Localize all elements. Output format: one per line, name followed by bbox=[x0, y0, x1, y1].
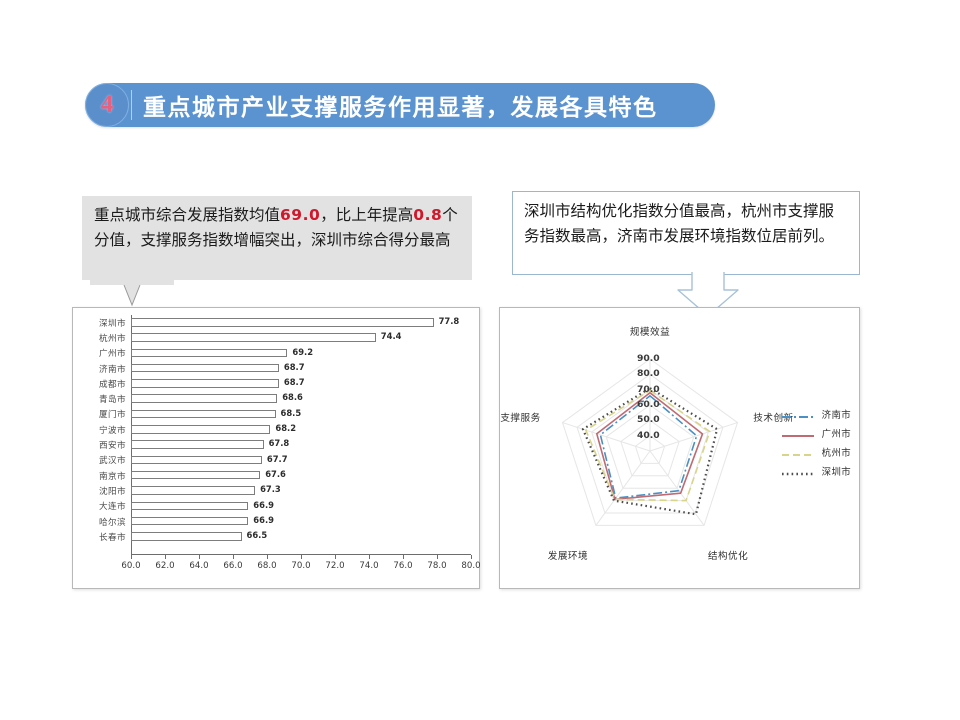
bar-category-label: 沈阳市 bbox=[73, 485, 131, 497]
radar-axis-label: 结构优化 bbox=[708, 548, 748, 562]
callout-left-part2: ，比上年提高 bbox=[320, 206, 413, 224]
radar-polygon bbox=[600, 396, 696, 498]
bar bbox=[131, 364, 279, 373]
x-axis-tick bbox=[437, 555, 438, 559]
bar bbox=[131, 410, 276, 419]
bar-chart-panel: 深圳市77.8杭州市74.4广州市69.2济南市68.7成都市68.7青岛市68… bbox=[72, 307, 480, 589]
x-axis-tick-label: 66.0 bbox=[223, 561, 242, 571]
bar bbox=[131, 318, 434, 327]
x-axis-tick bbox=[471, 555, 472, 559]
bar-track: 66.9 bbox=[131, 499, 479, 514]
x-axis-tick-label: 70.0 bbox=[291, 561, 310, 571]
section-number-badge: 4 bbox=[85, 83, 129, 127]
x-axis-tick-label: 72.0 bbox=[325, 561, 344, 571]
bar-value-label: 68.6 bbox=[282, 392, 303, 402]
page-title: 重点城市产业支撑服务作用显著，发展各具特色 bbox=[143, 88, 658, 122]
bar-chart-row: 长春市66.5 bbox=[73, 529, 479, 544]
bar-track: 67.3 bbox=[131, 483, 479, 498]
bar-category-label: 深圳市 bbox=[73, 317, 131, 329]
bar bbox=[131, 471, 260, 480]
bar bbox=[131, 440, 264, 449]
bar-value-label: 66.5 bbox=[247, 530, 268, 540]
bar-chart-row: 青岛市68.6 bbox=[73, 391, 479, 406]
radar-legend-swatch bbox=[781, 428, 815, 438]
radar-radial-tick-label: 90.0 bbox=[637, 353, 660, 364]
bar-track: 67.6 bbox=[131, 468, 479, 483]
radar-axis-label: 发展环境 bbox=[548, 548, 588, 562]
bar-value-label: 74.4 bbox=[381, 331, 402, 341]
bar bbox=[131, 425, 270, 434]
title-divider bbox=[131, 90, 132, 120]
bar-value-label: 77.8 bbox=[439, 316, 460, 326]
bar-value-label: 67.3 bbox=[260, 484, 281, 494]
bar-category-label: 青岛市 bbox=[73, 393, 131, 405]
bar-chart-row: 广州市69.2 bbox=[73, 346, 479, 361]
radar-legend-item[interactable]: 深圳市 bbox=[781, 461, 851, 480]
bar-track: 66.5 bbox=[131, 529, 479, 544]
bar-track: 68.6 bbox=[131, 391, 479, 406]
bar-category-label: 广州市 bbox=[73, 347, 131, 359]
callout-left-highlight-1: 69.0 bbox=[280, 206, 320, 224]
x-axis-tick bbox=[165, 555, 166, 559]
callout-left-part1: 重点城市综合发展指数均值 bbox=[94, 206, 280, 224]
bar-chart-row: 宁波市68.2 bbox=[73, 422, 479, 437]
x-axis-tick bbox=[301, 555, 302, 559]
radar-axis-label: 规模效益 bbox=[630, 324, 670, 338]
bar-value-label: 68.2 bbox=[275, 423, 296, 433]
bar-chart-row: 南京市67.6 bbox=[73, 468, 479, 483]
radar-legend-label: 深圳市 bbox=[822, 464, 851, 478]
bar bbox=[131, 379, 279, 388]
x-axis-tick-label: 80.0 bbox=[461, 561, 480, 571]
bar-track: 68.5 bbox=[131, 407, 479, 422]
bar-track: 74.4 bbox=[131, 330, 479, 345]
bar-value-label: 68.7 bbox=[284, 362, 305, 372]
bar-category-label: 南京市 bbox=[73, 470, 131, 482]
bar-category-label: 武汉市 bbox=[73, 454, 131, 466]
bar bbox=[131, 517, 248, 526]
bar-chart-rows: 深圳市77.8杭州市74.4广州市69.2济南市68.7成都市68.7青岛市68… bbox=[73, 315, 479, 544]
radar-legend-item[interactable]: 济南市 bbox=[781, 404, 851, 423]
x-axis-tick bbox=[131, 555, 132, 559]
bar-track: 68.7 bbox=[131, 376, 479, 391]
radar-radial-tick-label: 40.0 bbox=[637, 430, 660, 441]
radar-legend: 济南市广州市杭州市深圳市 bbox=[781, 404, 851, 480]
bar-chart-row: 厦门市68.5 bbox=[73, 407, 479, 422]
x-axis-tick bbox=[369, 555, 370, 559]
slide-root: 4 重点城市产业支撑服务作用显著，发展各具特色 重点城市综合发展指数均值69.0… bbox=[0, 0, 960, 720]
bar-value-label: 68.7 bbox=[284, 377, 305, 387]
bar-track: 69.2 bbox=[131, 346, 479, 361]
x-axis-tick-label: 76.0 bbox=[393, 561, 412, 571]
radar-legend-swatch bbox=[781, 466, 815, 476]
bar-chart-row: 哈尔滨66.9 bbox=[73, 514, 479, 529]
bar-category-label: 厦门市 bbox=[73, 408, 131, 420]
bar-value-label: 69.2 bbox=[292, 347, 313, 357]
radar-radial-tick-label: 80.0 bbox=[637, 368, 660, 379]
bar bbox=[131, 456, 262, 465]
radar-radial-tick-label: 70.0 bbox=[637, 384, 660, 395]
x-axis-tick bbox=[233, 555, 234, 559]
radar-axis-label: 支撑服务 bbox=[500, 410, 540, 424]
bar-category-label: 济南市 bbox=[73, 363, 131, 375]
x-axis-tick-label: 74.0 bbox=[359, 561, 378, 571]
slide-title-banner: 4 重点城市产业支撑服务作用显著，发展各具特色 bbox=[85, 83, 715, 127]
bar bbox=[131, 486, 255, 495]
bar-value-label: 67.8 bbox=[269, 438, 290, 448]
bar-chart-row: 沈阳市67.3 bbox=[73, 483, 479, 498]
bar-track: 66.9 bbox=[131, 514, 479, 529]
bar-chart-row: 杭州市74.4 bbox=[73, 330, 479, 345]
radar-radial-tick-label: 60.0 bbox=[637, 399, 660, 410]
bar-value-label: 66.9 bbox=[253, 515, 274, 525]
bar-chart-row: 成都市68.7 bbox=[73, 376, 479, 391]
radar-legend-item[interactable]: 杭州市 bbox=[781, 442, 851, 461]
callout-left-highlight-2: 0.8 bbox=[413, 206, 442, 224]
radar-legend-swatch bbox=[781, 447, 815, 457]
bar bbox=[131, 532, 242, 541]
x-axis-tick-label: 60.0 bbox=[121, 561, 140, 571]
bar-category-label: 大连市 bbox=[73, 500, 131, 512]
bar bbox=[131, 502, 248, 511]
bar-track: 67.7 bbox=[131, 453, 479, 468]
radar-legend-label: 杭州市 bbox=[822, 445, 851, 459]
bar-chart-row: 深圳市77.8 bbox=[73, 315, 479, 330]
callout-right: 深圳市结构优化指数分值最高，杭州市支撑服务指数最高，济南市发展环境指数位居前列。 bbox=[512, 191, 860, 275]
radar-legend-label: 济南市 bbox=[822, 407, 851, 421]
bar-category-label: 成都市 bbox=[73, 378, 131, 390]
x-axis-tick bbox=[403, 555, 404, 559]
bar-category-label: 长春市 bbox=[73, 531, 131, 543]
bar-category-label: 哈尔滨 bbox=[73, 516, 131, 528]
x-axis-tick-label: 62.0 bbox=[155, 561, 174, 571]
bar bbox=[131, 333, 376, 342]
x-axis-tick-label: 78.0 bbox=[427, 561, 446, 571]
x-axis-tick bbox=[267, 555, 268, 559]
bar bbox=[131, 394, 277, 403]
radar-legend-swatch bbox=[781, 409, 815, 419]
bar-track: 67.8 bbox=[131, 437, 479, 452]
radar-radial-tick-label: 50.0 bbox=[637, 414, 660, 425]
callout-right-text: 深圳市结构优化指数分值最高，杭州市支撑服务指数最高，济南市发展环境指数位居前列。 bbox=[524, 202, 834, 245]
bar-value-label: 67.7 bbox=[267, 454, 288, 464]
bar-category-label: 西安市 bbox=[73, 439, 131, 451]
bar-track: 68.2 bbox=[131, 422, 479, 437]
bar-category-label: 宁波市 bbox=[73, 424, 131, 436]
x-axis-tick-label: 64.0 bbox=[189, 561, 208, 571]
x-axis-tick-label: 68.0 bbox=[257, 561, 276, 571]
bar-chart-x-labels: 60.062.064.066.068.070.072.074.076.078.0… bbox=[131, 561, 471, 575]
radar-legend-label: 广州市 bbox=[822, 426, 851, 440]
bar-track: 77.8 bbox=[131, 315, 479, 330]
callout-left: 重点城市综合发展指数均值69.0，比上年提高0.8个分值，支撑服务指数增幅突出，… bbox=[82, 196, 472, 280]
bar-value-label: 66.9 bbox=[253, 500, 274, 510]
bar-value-label: 67.6 bbox=[265, 469, 286, 479]
x-axis-tick bbox=[199, 555, 200, 559]
bar bbox=[131, 349, 287, 358]
bar-category-label: 杭州市 bbox=[73, 332, 131, 344]
bar-chart-row: 济南市68.7 bbox=[73, 361, 479, 376]
radar-plot-area: 规模效益技术创新结构优化发展环境支撑服务 40.050.060.070.080.… bbox=[500, 308, 859, 588]
x-axis-tick bbox=[335, 555, 336, 559]
bar-chart-row: 大连市66.9 bbox=[73, 499, 479, 514]
bar-chart-row: 西安市67.8 bbox=[73, 437, 479, 452]
bar-chart-row: 武汉市67.7 bbox=[73, 453, 479, 468]
radar-legend-item[interactable]: 广州市 bbox=[781, 423, 851, 442]
bar-track: 68.7 bbox=[131, 361, 479, 376]
radar-chart-panel: 规模效益技术创新结构优化发展环境支撑服务 40.050.060.070.080.… bbox=[499, 307, 860, 589]
bar-value-label: 68.5 bbox=[281, 408, 302, 418]
